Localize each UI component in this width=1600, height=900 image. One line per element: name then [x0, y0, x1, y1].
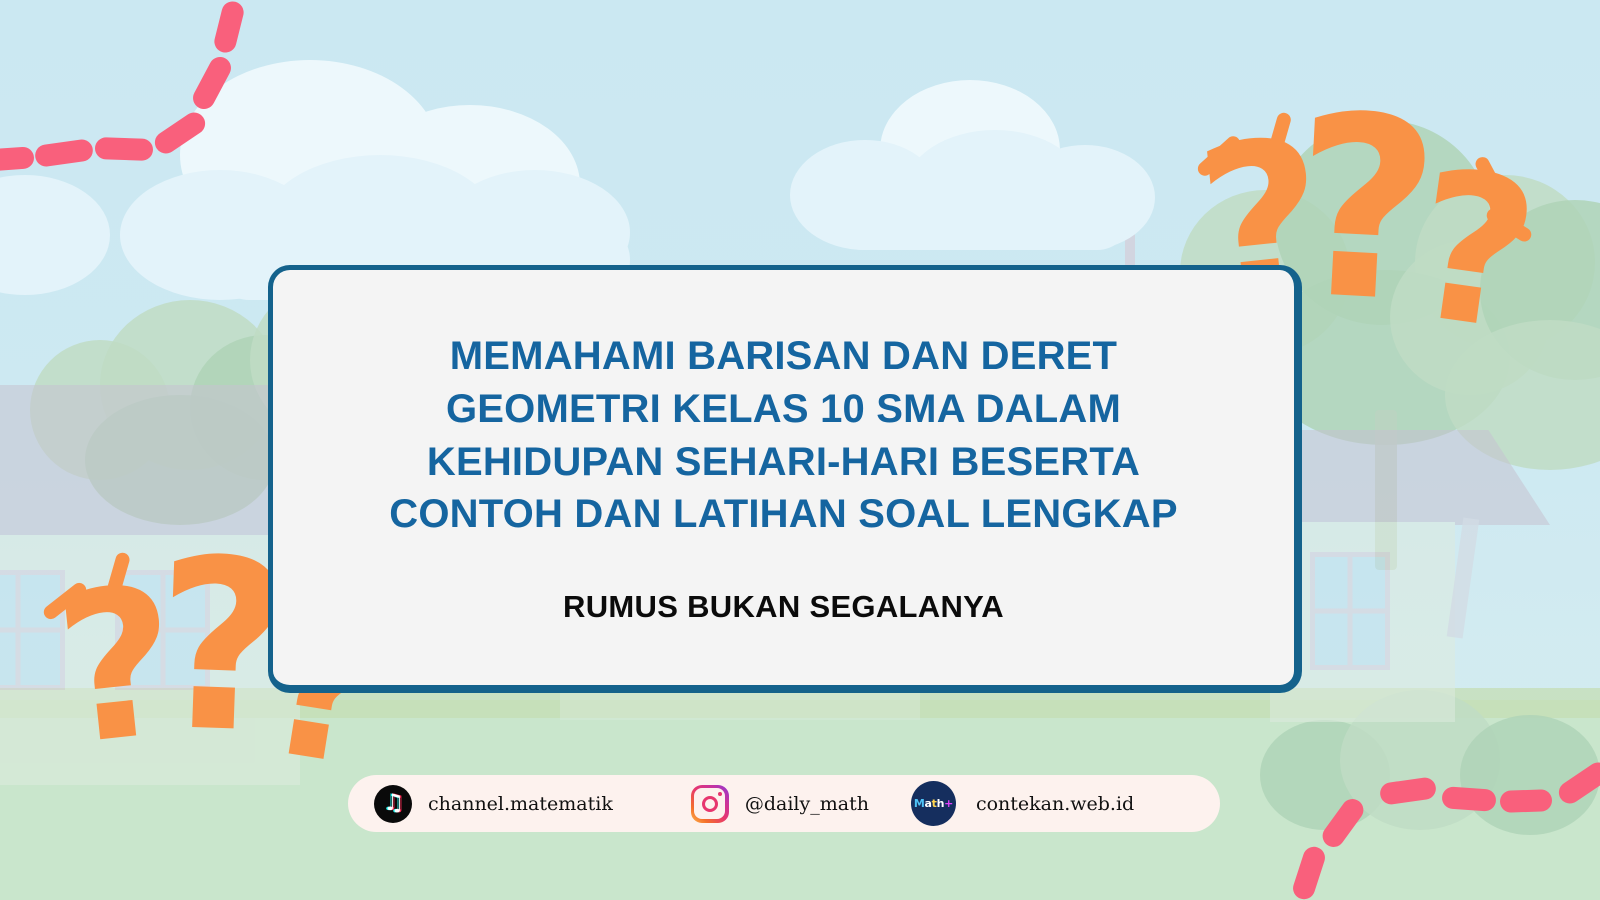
social-item-tiktok[interactable]: ♫ ♫ ♫ channel.matematik	[374, 785, 613, 823]
badge-letter-a: a	[924, 797, 931, 810]
social-label-tiktok: channel.matematik	[428, 793, 613, 815]
social-label-instagram: @daily_math	[745, 793, 869, 815]
badge-plus: +	[944, 797, 953, 810]
badge-letter-h: h	[937, 797, 945, 810]
math-badge-icon: Math+	[911, 781, 956, 826]
page-title: MEMAHAMI BARISAN DAN DERET GEOMETRI KELA…	[344, 330, 1224, 541]
tiktok-icon: ♫ ♫ ♫	[374, 785, 412, 823]
poster-canvas: ? ? ? ? ? ? MEMAHAMI BARISAN DAN DERET G…	[0, 0, 1600, 900]
badge-letter-m: M	[914, 797, 925, 810]
page-subtitle: RUMUS BUKAN SEGALANYA	[563, 589, 1004, 625]
title-card: MEMAHAMI BARISAN DAN DERET GEOMETRI KELA…	[268, 265, 1302, 693]
instagram-icon	[691, 785, 729, 823]
social-label-website: contekan.web.id	[976, 793, 1134, 815]
social-item-instagram[interactable]: @daily_math	[691, 785, 869, 823]
social-item-website[interactable]: Math+ contekan.web.id	[911, 781, 1134, 826]
social-footer-bar: ♫ ♫ ♫ channel.matematik @daily_math Math…	[348, 775, 1220, 832]
